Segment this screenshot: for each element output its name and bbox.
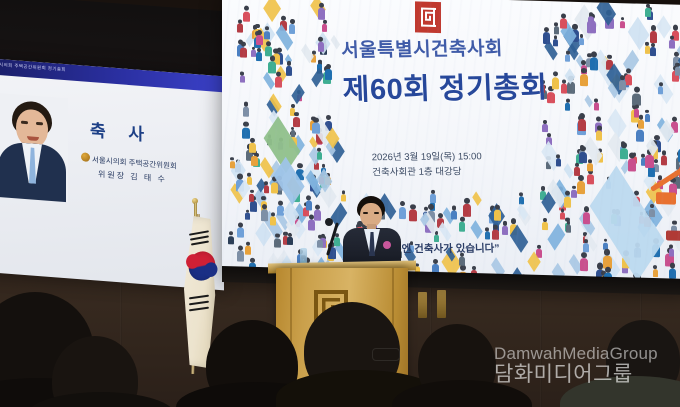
wall-seam bbox=[540, 276, 542, 407]
eyeglasses-icon bbox=[372, 348, 400, 361]
watermark: DamwahMediaGroup 담화미디어그룹 bbox=[494, 344, 658, 386]
left-screen-title: 축 사 bbox=[90, 116, 153, 146]
portrait-photo bbox=[0, 93, 68, 203]
flower-pin-icon bbox=[383, 241, 391, 249]
watermark-english: DamwahMediaGroup bbox=[494, 344, 658, 363]
flag-finial-icon bbox=[189, 198, 201, 218]
gold-seal-icon bbox=[81, 152, 90, 162]
wall-lamp-icon bbox=[418, 292, 427, 318]
main-projection-screen: 서울특별시건축사회 제60회 정기총회 2026년 3월 19일(목) 15:0… bbox=[222, 0, 680, 291]
left-screen-name: 위원장 김 태 수 bbox=[98, 169, 167, 185]
wall-lamp-icon bbox=[437, 290, 446, 318]
photo-scene: 서울시의회 주택공간위원회 정기총회 축 사 서울시의회 주택공간위원회 위원장… bbox=[0, 0, 680, 407]
microphone-head-icon bbox=[325, 218, 333, 226]
watermark-korean: 담화미디어그룹 bbox=[494, 363, 658, 386]
projector-scanlines bbox=[222, 0, 680, 291]
